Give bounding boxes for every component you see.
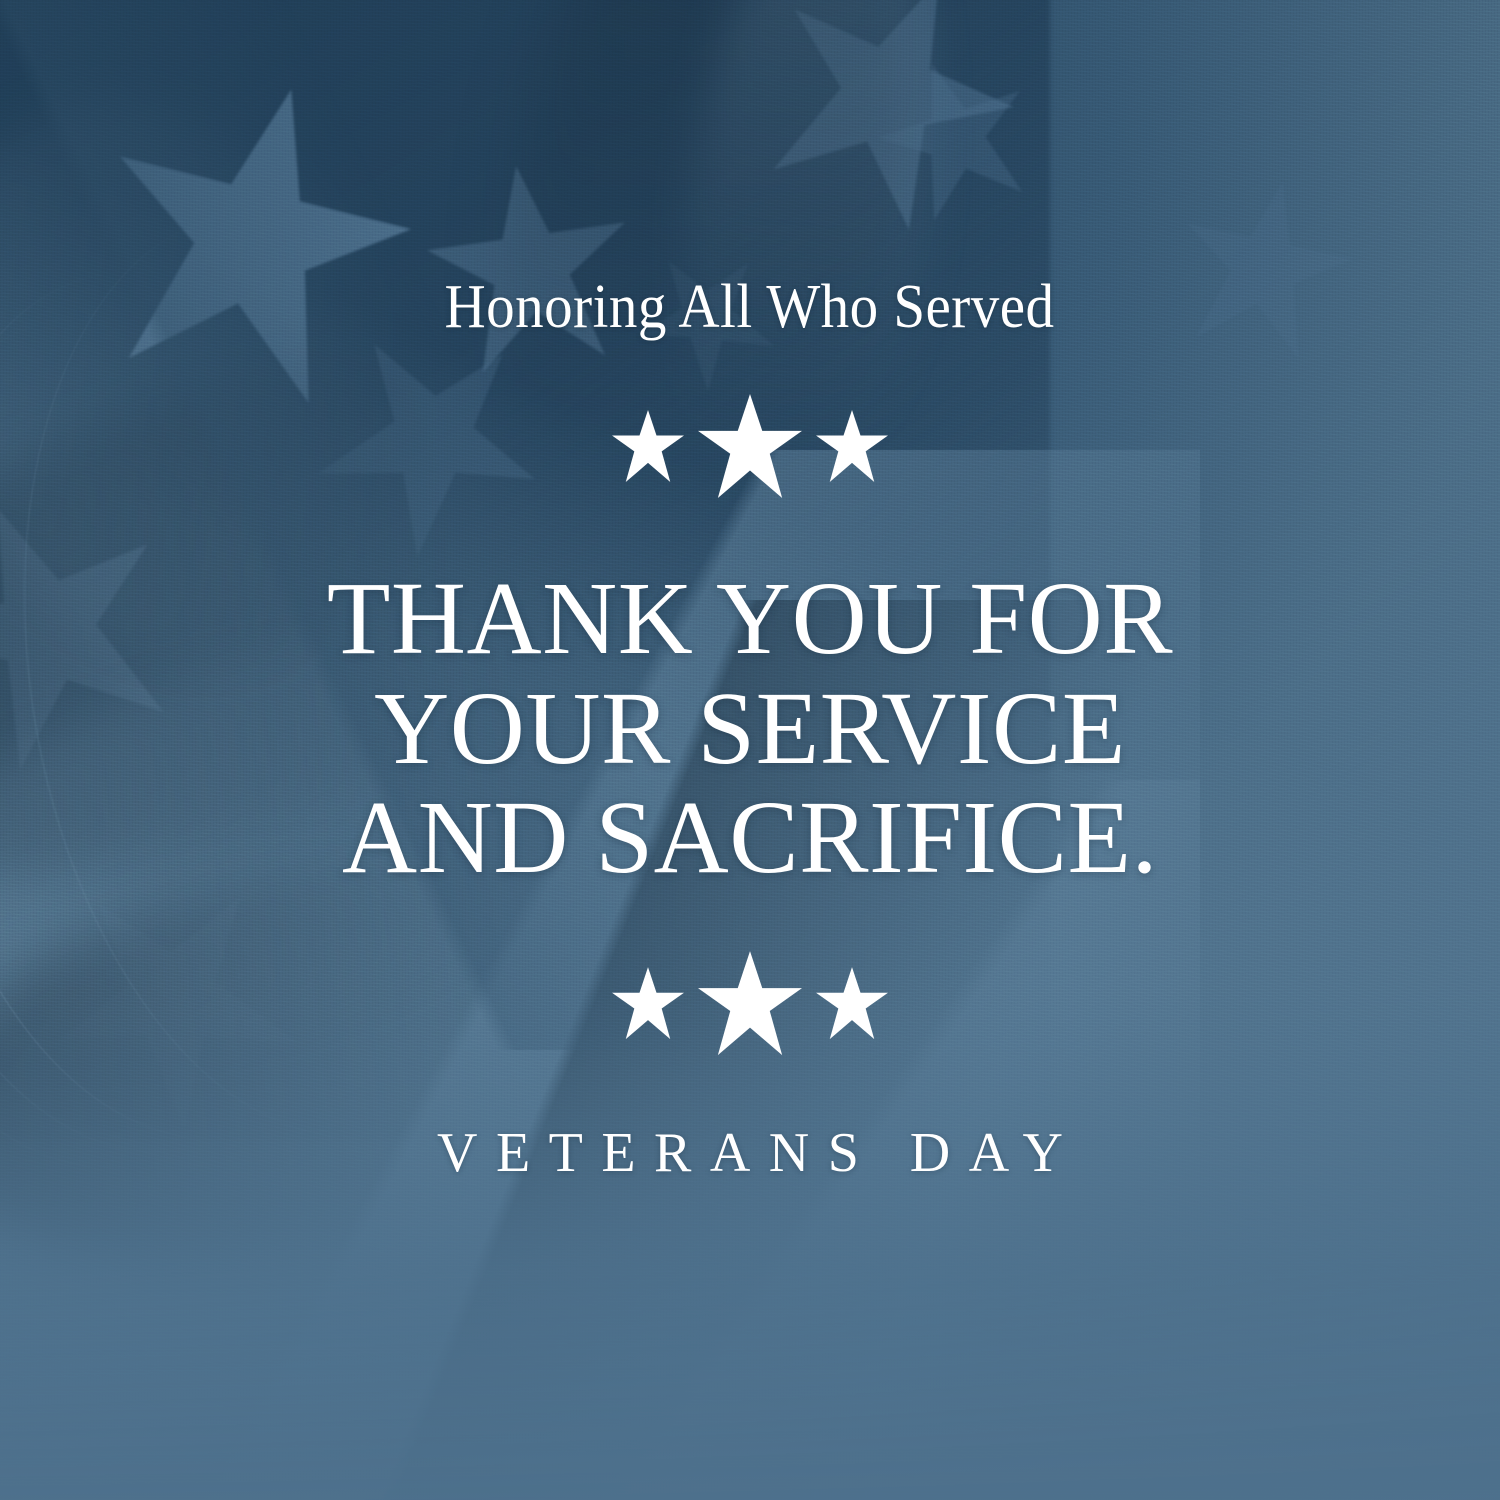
star-divider-top bbox=[612, 394, 888, 498]
star-icon bbox=[698, 951, 802, 1055]
headline-line-3: AND SACRIFICE. bbox=[327, 783, 1173, 893]
occasion-label: VETERANS DAY bbox=[419, 1121, 1082, 1185]
star-divider-bottom bbox=[612, 951, 888, 1055]
star-icon bbox=[816, 410, 888, 482]
star-icon bbox=[612, 967, 684, 1039]
star-icon bbox=[612, 410, 684, 482]
page-title: THANK YOU FOR YOUR SERVICE AND SACRIFICE… bbox=[327, 564, 1173, 893]
poster-content: Honoring All Who Served THANK YOU FOR YO… bbox=[0, 0, 1500, 1500]
headline-line-2: YOUR SERVICE bbox=[327, 674, 1173, 784]
veterans-day-poster: Honoring All Who Served THANK YOU FOR YO… bbox=[0, 0, 1500, 1500]
headline-line-1: THANK YOU FOR bbox=[327, 564, 1173, 674]
star-icon bbox=[816, 967, 888, 1039]
tagline: Honoring All Who Served bbox=[445, 276, 1055, 338]
star-icon bbox=[698, 394, 802, 498]
